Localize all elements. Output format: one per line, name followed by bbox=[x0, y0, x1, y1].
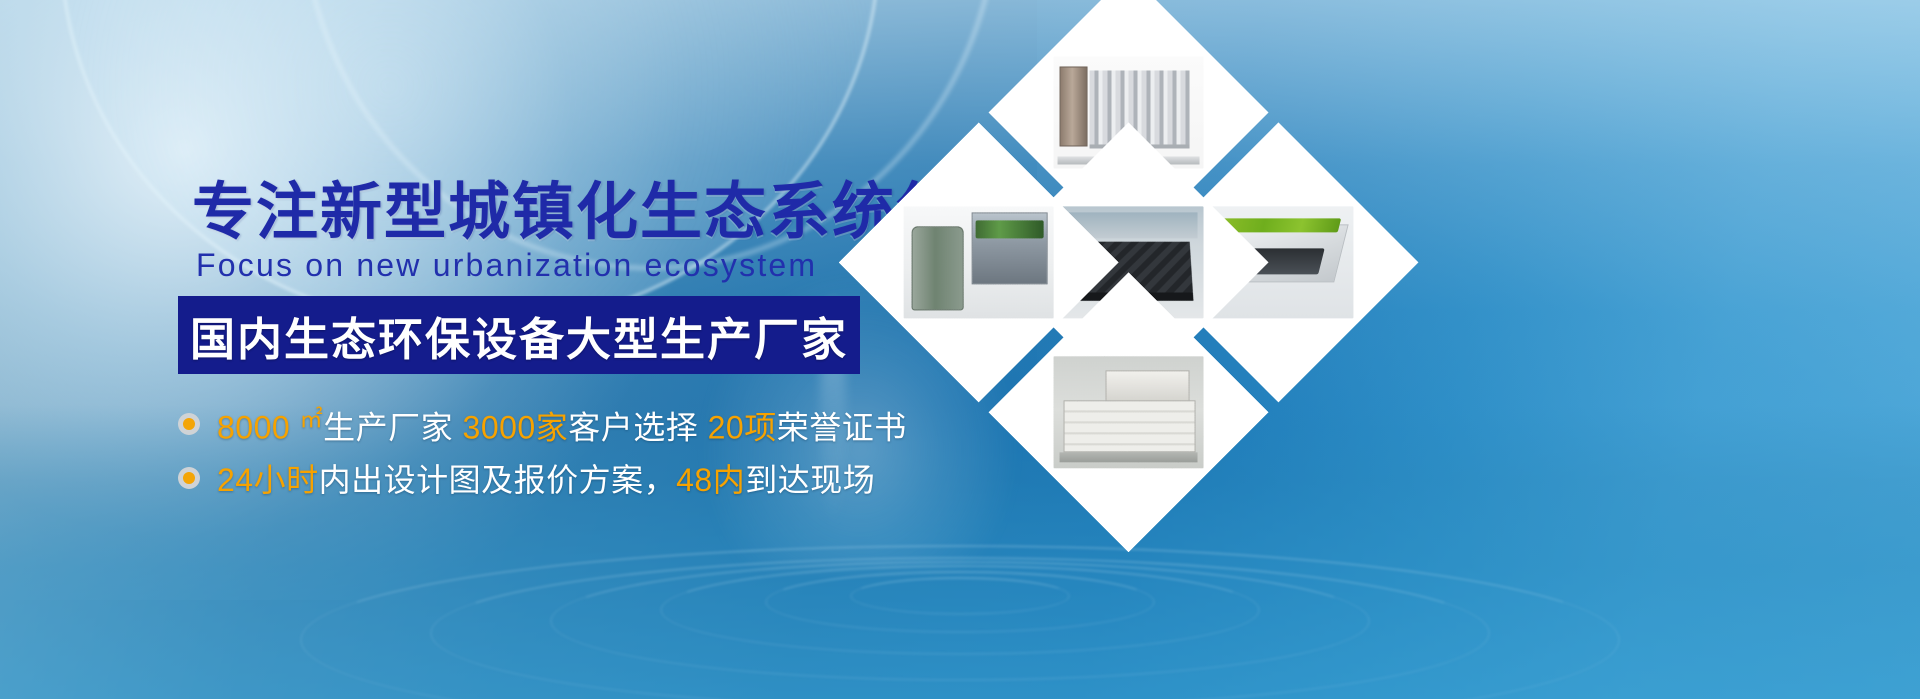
list-item: 24小时内出设计图及报价方案，48内到达现场 bbox=[178, 454, 938, 502]
text-run: 荣誉证书 bbox=[777, 409, 907, 445]
bullet-text-1: 24小时内出设计图及报价方案，48内到达现场 bbox=[217, 455, 875, 501]
text-run: 3000家 bbox=[463, 409, 569, 445]
banner-subheadline: Focus on new urbanization ecosystem bbox=[196, 249, 817, 281]
text-run: 20项 bbox=[708, 409, 777, 445]
concrete-panel-stack-photo bbox=[1054, 356, 1204, 468]
text-run: 24小时 bbox=[217, 462, 319, 498]
text-run: 8000 bbox=[217, 409, 300, 445]
text-run: ㎡ bbox=[300, 406, 324, 432]
fiberglass-pump-station-photo bbox=[904, 206, 1054, 318]
text-run: 到达现场 bbox=[745, 462, 875, 498]
text-run: 内出设计图及报价方案， bbox=[319, 462, 677, 498]
banner-ribbon: 国内生态环保设备大型生产厂家 bbox=[178, 296, 860, 374]
text-run: 48内 bbox=[676, 462, 745, 498]
text-run: 客户选择 bbox=[568, 409, 707, 445]
bullet-dot-icon bbox=[178, 467, 200, 489]
text-run: 生产厂家 bbox=[323, 409, 462, 445]
banner-ribbon-text: 国内生态环保设备大型生产厂家 bbox=[190, 303, 848, 368]
bullet-text-0: 8000 ㎡生产厂家 3000家客户选择 20项荣誉证书 bbox=[217, 400, 907, 449]
bullet-dot-icon bbox=[178, 413, 200, 435]
hero-banner: 专注新型城镇化生态系统领域 Focus on new urbanization … bbox=[0, 0, 1920, 699]
banner-bullet-list: 8000 ㎡生产厂家 3000家客户选择 20项荣誉证书 24小时内出设计图及报… bbox=[178, 400, 938, 508]
banner-copy: 专注新型城镇化生态系统领域 Focus on new urbanization … bbox=[0, 0, 930, 699]
list-item: 8000 ㎡生产厂家 3000家客户选择 20项荣誉证书 bbox=[178, 400, 938, 448]
